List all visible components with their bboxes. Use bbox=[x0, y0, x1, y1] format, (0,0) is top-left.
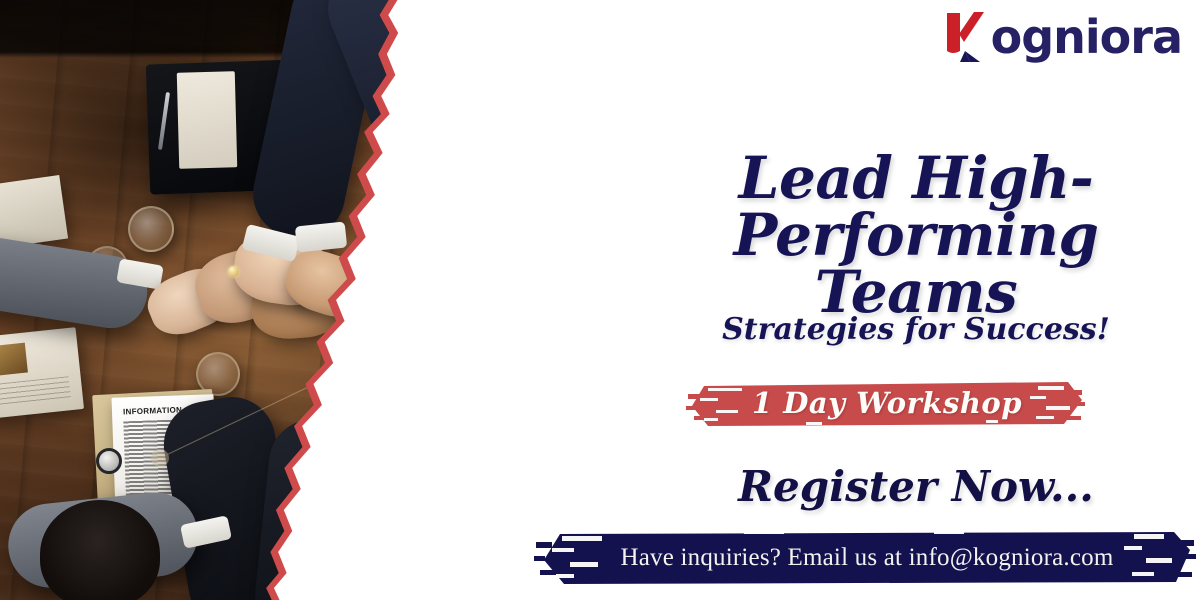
page-title: Lead High- Performing Teams bbox=[636, 150, 1196, 320]
hero-photo: INFORMATION bbox=[0, 0, 700, 600]
notebook-prop bbox=[398, 75, 506, 166]
tablet-prop bbox=[523, 91, 618, 165]
water-glass-prop-4 bbox=[432, 330, 474, 372]
brand-logo[interactable]: ogniora bbox=[943, 6, 1182, 68]
stacked-hand-6 bbox=[388, 505, 506, 586]
brand-wordmark: ogniora bbox=[991, 14, 1182, 60]
event-promo-banner: INFORMATION bbox=[0, 0, 1200, 600]
laptop-prop bbox=[462, 426, 597, 541]
coffee-cup-prop bbox=[428, 180, 488, 240]
headline-line-2: Performing Teams bbox=[636, 207, 1196, 321]
workshop-duration-badge: 1 Day Workshop bbox=[686, 376, 1088, 430]
laptop-keyboard bbox=[471, 436, 587, 506]
tablet-screen bbox=[528, 96, 613, 159]
workshop-badge-label: 1 Day Workshop bbox=[686, 376, 1088, 430]
contact-email-text[interactable]: Have inquiries? Email us at info@kognior… bbox=[534, 544, 1200, 572]
pen-prop-2 bbox=[444, 87, 465, 131]
register-now-cta[interactable]: Register Now... bbox=[636, 462, 1196, 511]
kogniora-k-mark-icon bbox=[943, 11, 989, 63]
page-subtitle: Strategies for Success! bbox=[636, 312, 1196, 347]
network-graphic-overlay bbox=[0, 0, 700, 600]
notebook-lines bbox=[409, 90, 494, 154]
laptop-trackpad bbox=[506, 504, 557, 529]
coffee-surface bbox=[441, 192, 475, 226]
contact-info-bar: Have inquiries? Email us at info@kognior… bbox=[534, 528, 1200, 590]
headline-line-1: Lead High- bbox=[636, 150, 1196, 207]
